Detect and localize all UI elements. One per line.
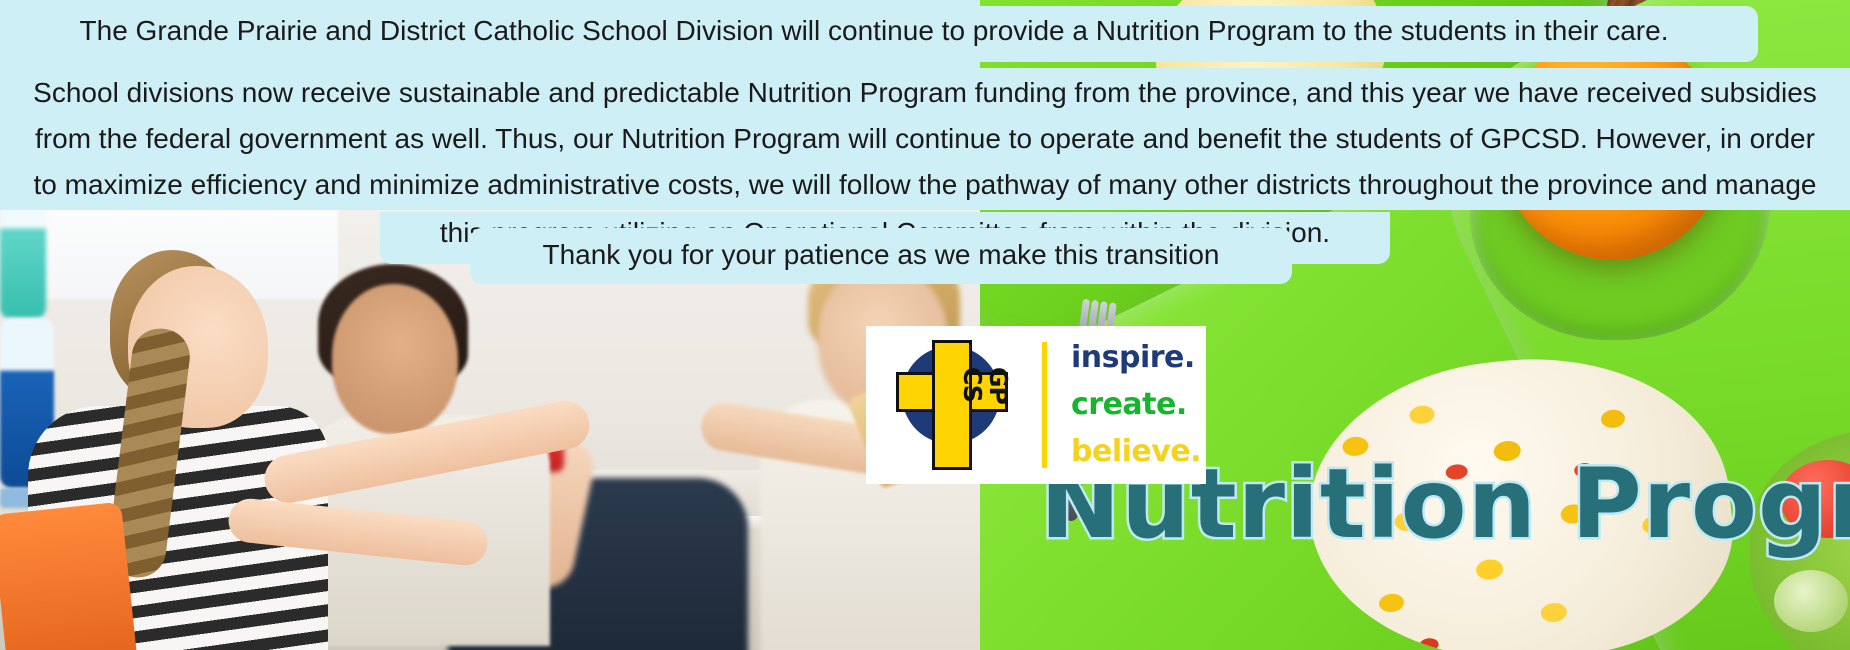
gpcs-monogram-line-2: CS [959, 367, 985, 437]
logo-taglines: inspire. create. believe. [1071, 334, 1201, 475]
announcement-paragraph-line-1: School divisions now receive sustainable… [0, 70, 1850, 116]
announcement-paragraph-line-3: to maximize efficiency and minimize admi… [0, 162, 1850, 208]
gpcs-monogram: GP CS [931, 367, 1011, 437]
tagline-create: create. [1071, 381, 1201, 428]
announcement-paragraph-line-2: from the federal government as well. Thu… [0, 116, 1850, 162]
gpcs-cross-icon: GP CS [886, 336, 1016, 474]
tagline-inspire: inspire. [1071, 334, 1201, 381]
announcement-closing: Thank you for your patience as we make t… [470, 228, 1292, 284]
orange-backpack [0, 502, 139, 650]
logo-divider [1042, 342, 1047, 468]
nutrition-program-banner: The Grande Prairie and District Catholic… [0, 0, 1850, 650]
gpcs-logo: GP CS inspire. create. believe. [866, 326, 1206, 484]
child-second-head [332, 284, 458, 434]
announcement-paragraph: School divisions now receive sustainable… [0, 68, 1850, 210]
gpcs-monogram-line-1: GP [985, 367, 1011, 437]
tagline-believe: believe. [1071, 428, 1201, 475]
announcement-line-1: The Grande Prairie and District Catholic… [0, 6, 1758, 62]
